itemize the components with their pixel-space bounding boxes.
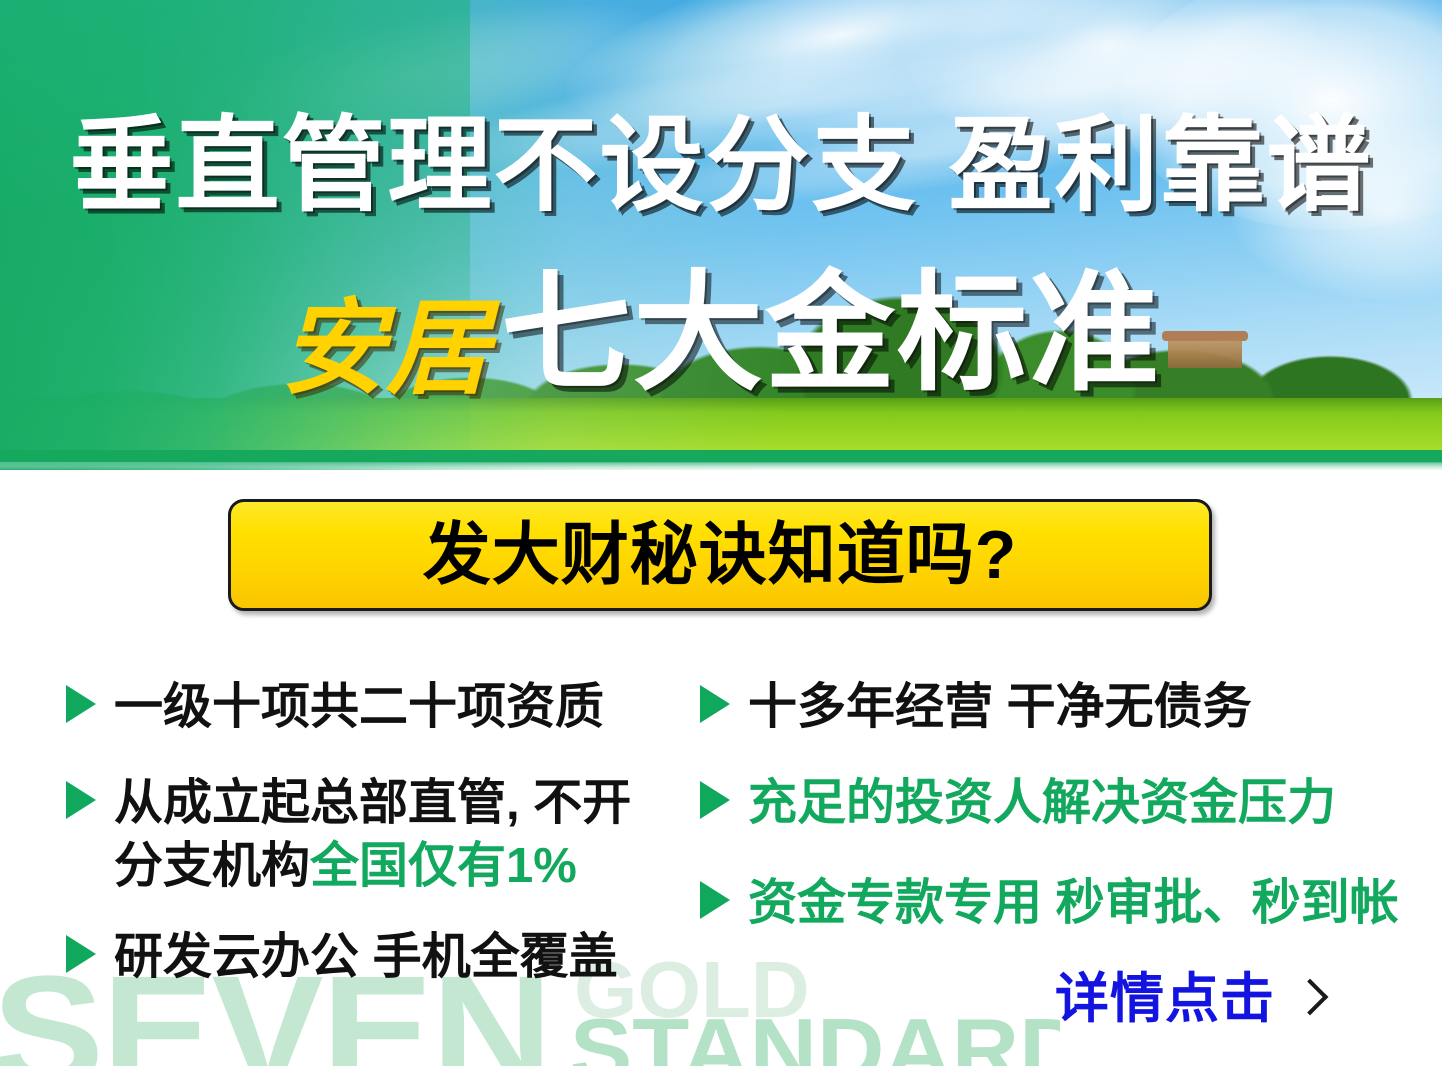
- triangle-right-icon: [700, 881, 730, 919]
- chevron-right-icon: [1292, 979, 1329, 1016]
- highlight-banner[interactable]: 发大财秘诀知道吗?: [228, 499, 1212, 611]
- triangle-right-icon: [66, 685, 96, 723]
- details-cta-button[interactable]: 详情点击: [1055, 972, 1323, 1026]
- list-item-label: 十多年经营 干净无债务: [748, 676, 1252, 739]
- details-cta-label: 详情点击: [1055, 972, 1275, 1026]
- advertisement-banner: 垂直管理不设分支 盈利靠谱 安居七大金标准 发大财秘诀知道吗? SEVEN GO…: [0, 0, 1442, 1066]
- headline-secondary-row: 安居七大金标准: [0, 268, 1442, 401]
- list-item: 充足的投资人解决资金压力: [700, 772, 1336, 835]
- headline-primary: 垂直管理不设分支 盈利靠谱: [0, 112, 1442, 221]
- triangle-right-icon: [66, 781, 96, 819]
- hero-section: 垂直管理不设分支 盈利靠谱 安居七大金标准: [0, 0, 1442, 470]
- list-item: 从成立起总部直管, 不开分支机构全国仅有1%: [66, 772, 634, 897]
- list-item: 研发云办公 手机全覆盖: [66, 926, 618, 989]
- triangle-right-icon: [700, 781, 730, 819]
- highlight-text: 全国仅有1%: [310, 839, 577, 893]
- hero-text-block: 垂直管理不设分支 盈利靠谱 安居七大金标准: [0, 0, 1442, 470]
- watermark-standards: STANDARDS: [570, 1006, 1060, 1066]
- brand-name: 安居: [281, 297, 491, 401]
- headline-secondary: 七大金标准: [501, 268, 1161, 398]
- list-item: 一级十项共二十项资质: [66, 676, 604, 739]
- list-item-label: 资金专款专用 秒审批、秒到帐: [748, 872, 1399, 935]
- triangle-right-icon: [66, 935, 96, 973]
- triangle-right-icon: [700, 685, 730, 723]
- features-list: 一级十项共二十项资质 从成立起总部直管, 不开分支机构全国仅有1% 研发云办公 …: [0, 660, 1442, 990]
- highlight-banner-text: 发大财秘诀知道吗?: [423, 521, 1018, 589]
- list-item-label: 从成立起总部直管, 不开分支机构全国仅有1%: [114, 772, 634, 897]
- list-item: 十多年经营 干净无债务: [700, 676, 1252, 739]
- list-item: 资金专款专用 秒审批、秒到帐: [700, 872, 1399, 935]
- list-item-label: 一级十项共二十项资质: [114, 676, 604, 739]
- list-item-label: 研发云办公 手机全覆盖: [114, 926, 618, 989]
- list-item-label: 充足的投资人解决资金压力: [748, 772, 1336, 835]
